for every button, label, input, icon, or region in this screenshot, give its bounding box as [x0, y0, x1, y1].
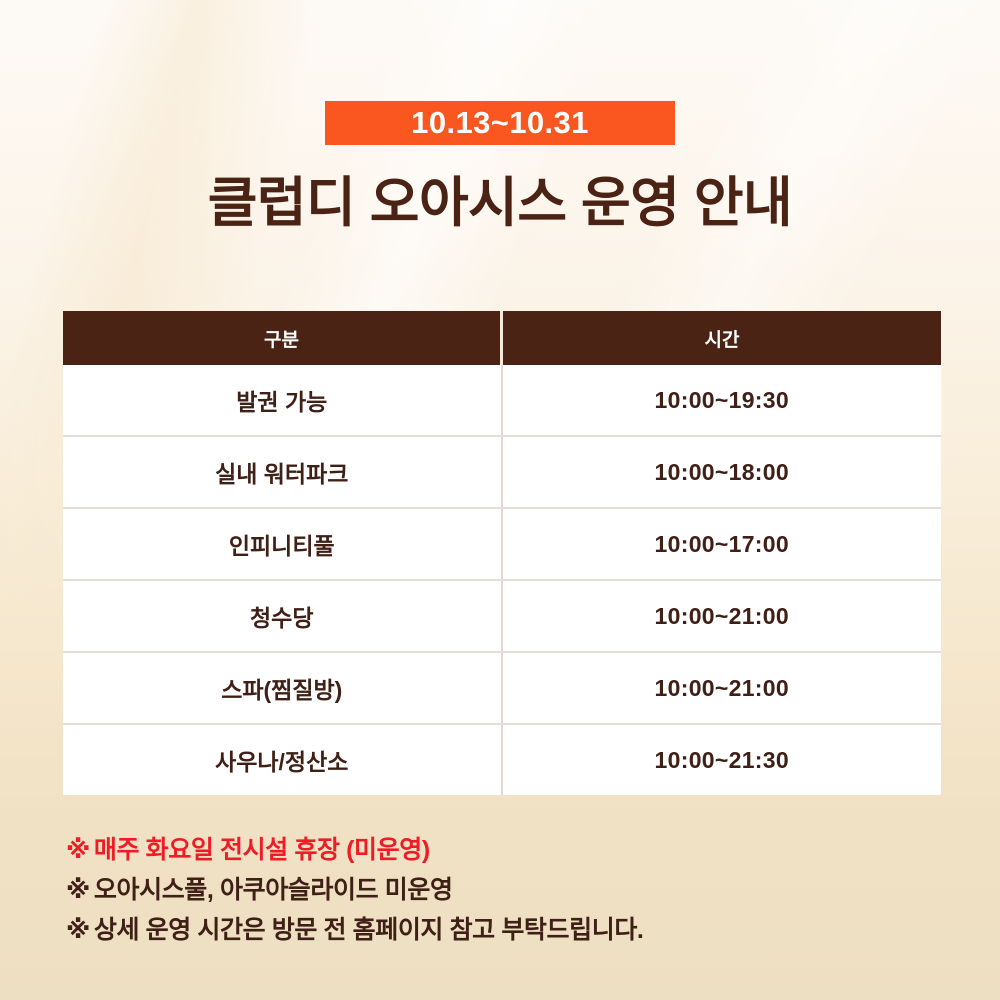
- footnote-item: ※오아시스풀, 아쿠아슬라이드 미운영: [66, 870, 966, 910]
- date-range-badge: 10.13~10.31: [325, 101, 675, 145]
- reference-mark-icon: ※: [66, 870, 90, 910]
- promo-poster: 10.13~10.31 클럽디 오아시스 운영 안내 구분 시간 발권 가능10…: [0, 0, 1000, 1000]
- column-header-time: 시간: [502, 311, 942, 365]
- operating-hours-table: 구분 시간 발권 가능10:00~19:30실내 워터파크10:00~18:00…: [63, 311, 941, 795]
- table-row: 실내 워터파크10:00~18:00: [63, 436, 941, 508]
- cell-time: 10:00~21:00: [502, 580, 942, 652]
- footnote-text: 오아시스풀, 아쿠아슬라이드 미운영: [94, 876, 453, 904]
- table-body: 발권 가능10:00~19:30실내 워터파크10:00~18:00인피니티풀1…: [63, 365, 941, 795]
- footnote-item: ※매주 화요일 전시설 휴장 (미운영): [66, 830, 966, 870]
- table-row: 인피니티풀10:00~17:00: [63, 508, 941, 580]
- date-badge-container: 10.13~10.31: [0, 101, 1000, 145]
- reference-mark-icon: ※: [66, 830, 90, 870]
- table-row: 사우나/정산소10:00~21:30: [63, 724, 941, 795]
- table-row: 스파(찜질방)10:00~21:00: [63, 652, 941, 724]
- table-row: 청수당10:00~21:00: [63, 580, 941, 652]
- cell-category: 발권 가능: [63, 365, 502, 436]
- cell-category: 실내 워터파크: [63, 436, 502, 508]
- table-row: 발권 가능10:00~19:30: [63, 365, 941, 436]
- table-header-row: 구분 시간: [63, 311, 941, 365]
- cell-category: 사우나/정산소: [63, 724, 502, 795]
- cell-time: 10:00~21:00: [502, 652, 942, 724]
- reference-mark-icon: ※: [66, 910, 90, 950]
- footnote-list: ※매주 화요일 전시설 휴장 (미운영)※오아시스풀, 아쿠아슬라이드 미운영※…: [66, 830, 966, 950]
- cell-time: 10:00~17:00: [502, 508, 942, 580]
- table-head: 구분 시간: [63, 311, 941, 365]
- page-title: 클럽디 오아시스 운영 안내: [0, 168, 1000, 238]
- cell-category: 청수당: [63, 580, 502, 652]
- footnote-text: 상세 운영 시간은 방문 전 홈페이지 참고 부탁드립니다.: [94, 916, 644, 944]
- poster-content: 10.13~10.31 클럽디 오아시스 운영 안내 구분 시간 발권 가능10…: [0, 0, 1000, 1000]
- footnote-text: 매주 화요일 전시설 휴장 (미운영): [94, 836, 430, 864]
- column-header-category: 구분: [63, 311, 502, 365]
- footnote-item: ※상세 운영 시간은 방문 전 홈페이지 참고 부탁드립니다.: [66, 910, 966, 950]
- cell-category: 인피니티풀: [63, 508, 502, 580]
- cell-time: 10:00~21:30: [502, 724, 942, 795]
- cell-time: 10:00~19:30: [502, 365, 942, 436]
- cell-category: 스파(찜질방): [63, 652, 502, 724]
- cell-time: 10:00~18:00: [502, 436, 942, 508]
